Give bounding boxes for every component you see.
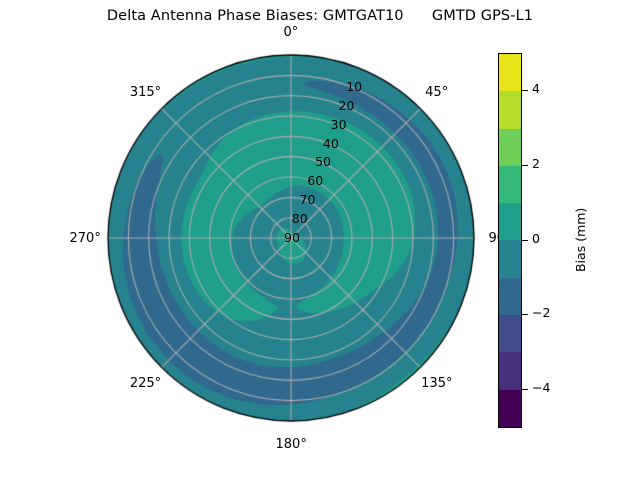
colorbar-tick-label: 2: [532, 158, 540, 171]
colorbar-tick-mark: [521, 314, 528, 315]
colorbar-tick-label: −2: [532, 307, 550, 320]
azimuth-label-225: 225°: [130, 377, 161, 390]
colorbar-tick-label: 4: [532, 83, 540, 96]
radial-label-60: 60: [307, 175, 323, 188]
azimuth-label-45: 45°: [425, 86, 448, 99]
radial-label-10: 10: [346, 81, 362, 94]
azimuth-label-270: 270°: [70, 232, 101, 245]
radial-label-40: 40: [323, 138, 339, 151]
colorbar-tick-mark: [521, 90, 528, 91]
colorbar[interactable]: [498, 53, 522, 428]
colorbar-tick-mark: [521, 240, 528, 241]
colorbar-tick-mark: [521, 389, 528, 390]
azimuth-label-0: 0°: [284, 26, 299, 39]
radial-label-20: 20: [338, 100, 354, 113]
radial-label-30: 30: [331, 119, 347, 132]
azimuth-label-315: 315°: [130, 86, 161, 99]
colorbar-band: [499, 278, 521, 315]
colorbar-band: [499, 315, 521, 352]
colorbar-band: [499, 54, 521, 91]
colorbar-band: [499, 352, 521, 389]
colorbar-band: [499, 91, 521, 128]
radial-label-70: 70: [300, 194, 316, 207]
colorbar-tick-label: 0: [532, 233, 540, 246]
azimuth-label-180: 180°: [276, 438, 307, 451]
radial-label-90: 90: [284, 232, 300, 245]
radial-label-50: 50: [315, 156, 331, 169]
matplotlib-figure: Delta Antenna Phase Biases: GMTGAT10 GMT…: [0, 0, 640, 480]
colorbar-band: [499, 129, 521, 166]
colorbar-axis-label: Bias (mm): [575, 208, 588, 272]
radial-label-80: 80: [292, 213, 308, 226]
colorbar-band: [499, 390, 521, 427]
colorbar-band: [499, 203, 521, 240]
azimuth-label-135: 135°: [421, 377, 452, 390]
colorbar-tick-label: −4: [532, 382, 550, 395]
colorbar-band: [499, 240, 521, 277]
colorbar-tick-mark: [521, 165, 528, 166]
colorbar-band: [499, 166, 521, 203]
